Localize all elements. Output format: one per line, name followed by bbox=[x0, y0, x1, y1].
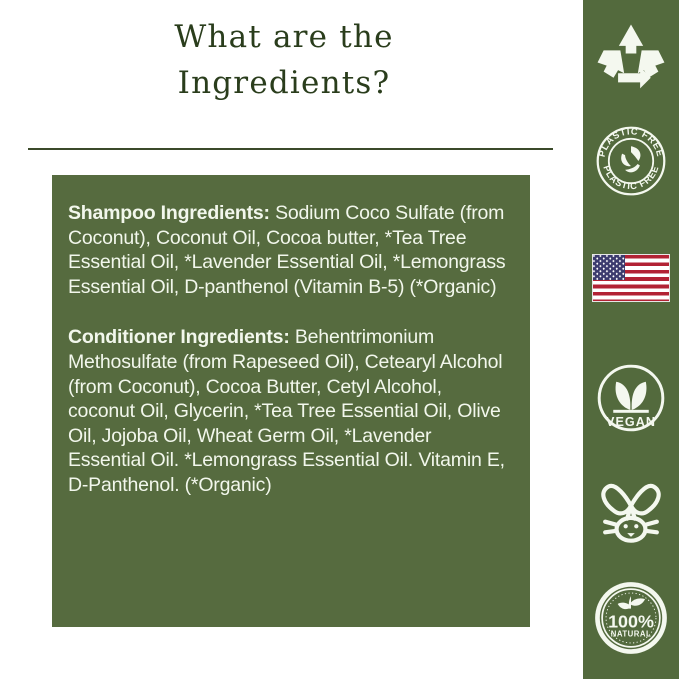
title-divider bbox=[28, 148, 553, 150]
100-percent-natural-icon: 100% NATURAL bbox=[583, 570, 679, 666]
svg-text:PLASTIC FREE: PLASTIC FREE bbox=[597, 126, 666, 158]
plastic-free-top-label: PLASTIC FREE bbox=[597, 126, 666, 158]
ingredients-card: Shampoo Ingredients: Sodium Coco Sulfate… bbox=[52, 175, 530, 627]
usa-flag-graphic bbox=[592, 254, 670, 302]
plastic-free-icon: PLASTIC FREE PLASTIC FREE bbox=[583, 115, 679, 207]
natural-sub-label: NATURAL bbox=[611, 630, 651, 639]
recycle-icon bbox=[583, 8, 679, 108]
usa-flag-icon bbox=[583, 243, 679, 313]
vegan-label: VEGAN bbox=[606, 415, 656, 429]
vegan-icon: VEGAN bbox=[583, 350, 679, 446]
conditioner-ingredients-block: Conditioner Ingredients: Behentrimonium … bbox=[68, 325, 510, 497]
shampoo-ingredients-block: Shampoo Ingredients: Sodium Coco Sulfate… bbox=[68, 201, 510, 299]
shampoo-ingredients-heading: Shampoo Ingredients: bbox=[68, 202, 270, 224]
main-content-panel: What are the Ingredients? Shampoo Ingred… bbox=[0, 0, 583, 679]
conditioner-ingredients-heading: Conditioner Ingredients: bbox=[68, 326, 290, 348]
page-title: What are the Ingredients? bbox=[0, 14, 568, 106]
ingredients-infographic: What are the Ingredients? Shampoo Ingred… bbox=[0, 0, 679, 679]
cruelty-free-bunny-icon bbox=[583, 460, 679, 556]
conditioner-ingredients-body: Behentrimonium Methosulfate (from Rapese… bbox=[68, 326, 505, 496]
natural-percent-label: 100% bbox=[608, 611, 654, 631]
certification-badge-sidebar: PLASTIC FREE PLASTIC FREE bbox=[583, 0, 679, 679]
